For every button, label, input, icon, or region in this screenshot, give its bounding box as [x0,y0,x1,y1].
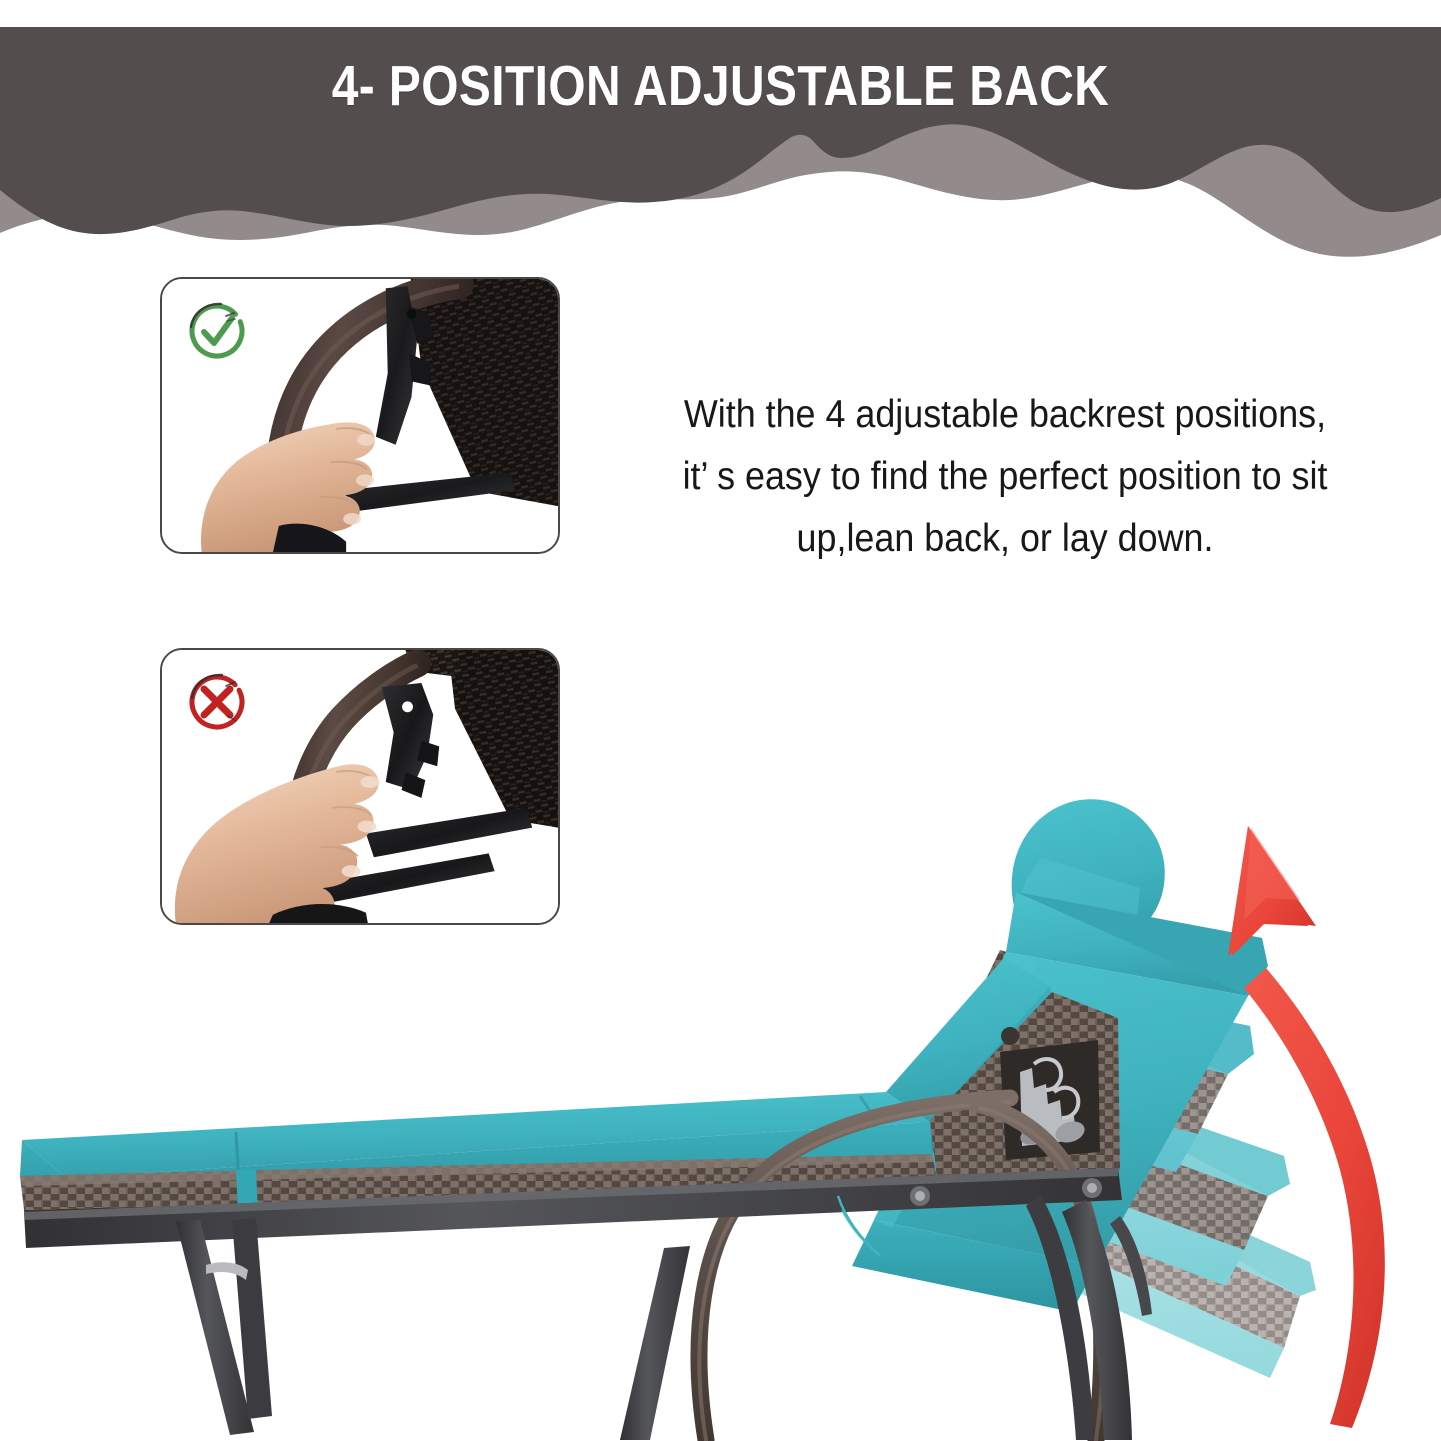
header-banner: 4- POSITION ADJUSTABLE BACK [0,0,1441,265]
page-title: 4- POSITION ADJUSTABLE BACK [115,57,1325,117]
description-line-2: it’ s easy to find the perfect position … [642,446,1369,508]
check-badge-icon [184,297,250,363]
description-line-1: With the 4 adjustable backrest positions… [642,384,1369,446]
header-wave-shape [0,0,1441,265]
thumbnail-correct-usage[interactable] [160,277,560,554]
description-line-3: up,lean back, or lay down. [642,508,1369,570]
description-paragraph: With the 4 adjustable backrest positions… [642,384,1369,570]
chaise-lounge-illustration [0,700,1441,1441]
cross-badge-icon [184,668,250,734]
